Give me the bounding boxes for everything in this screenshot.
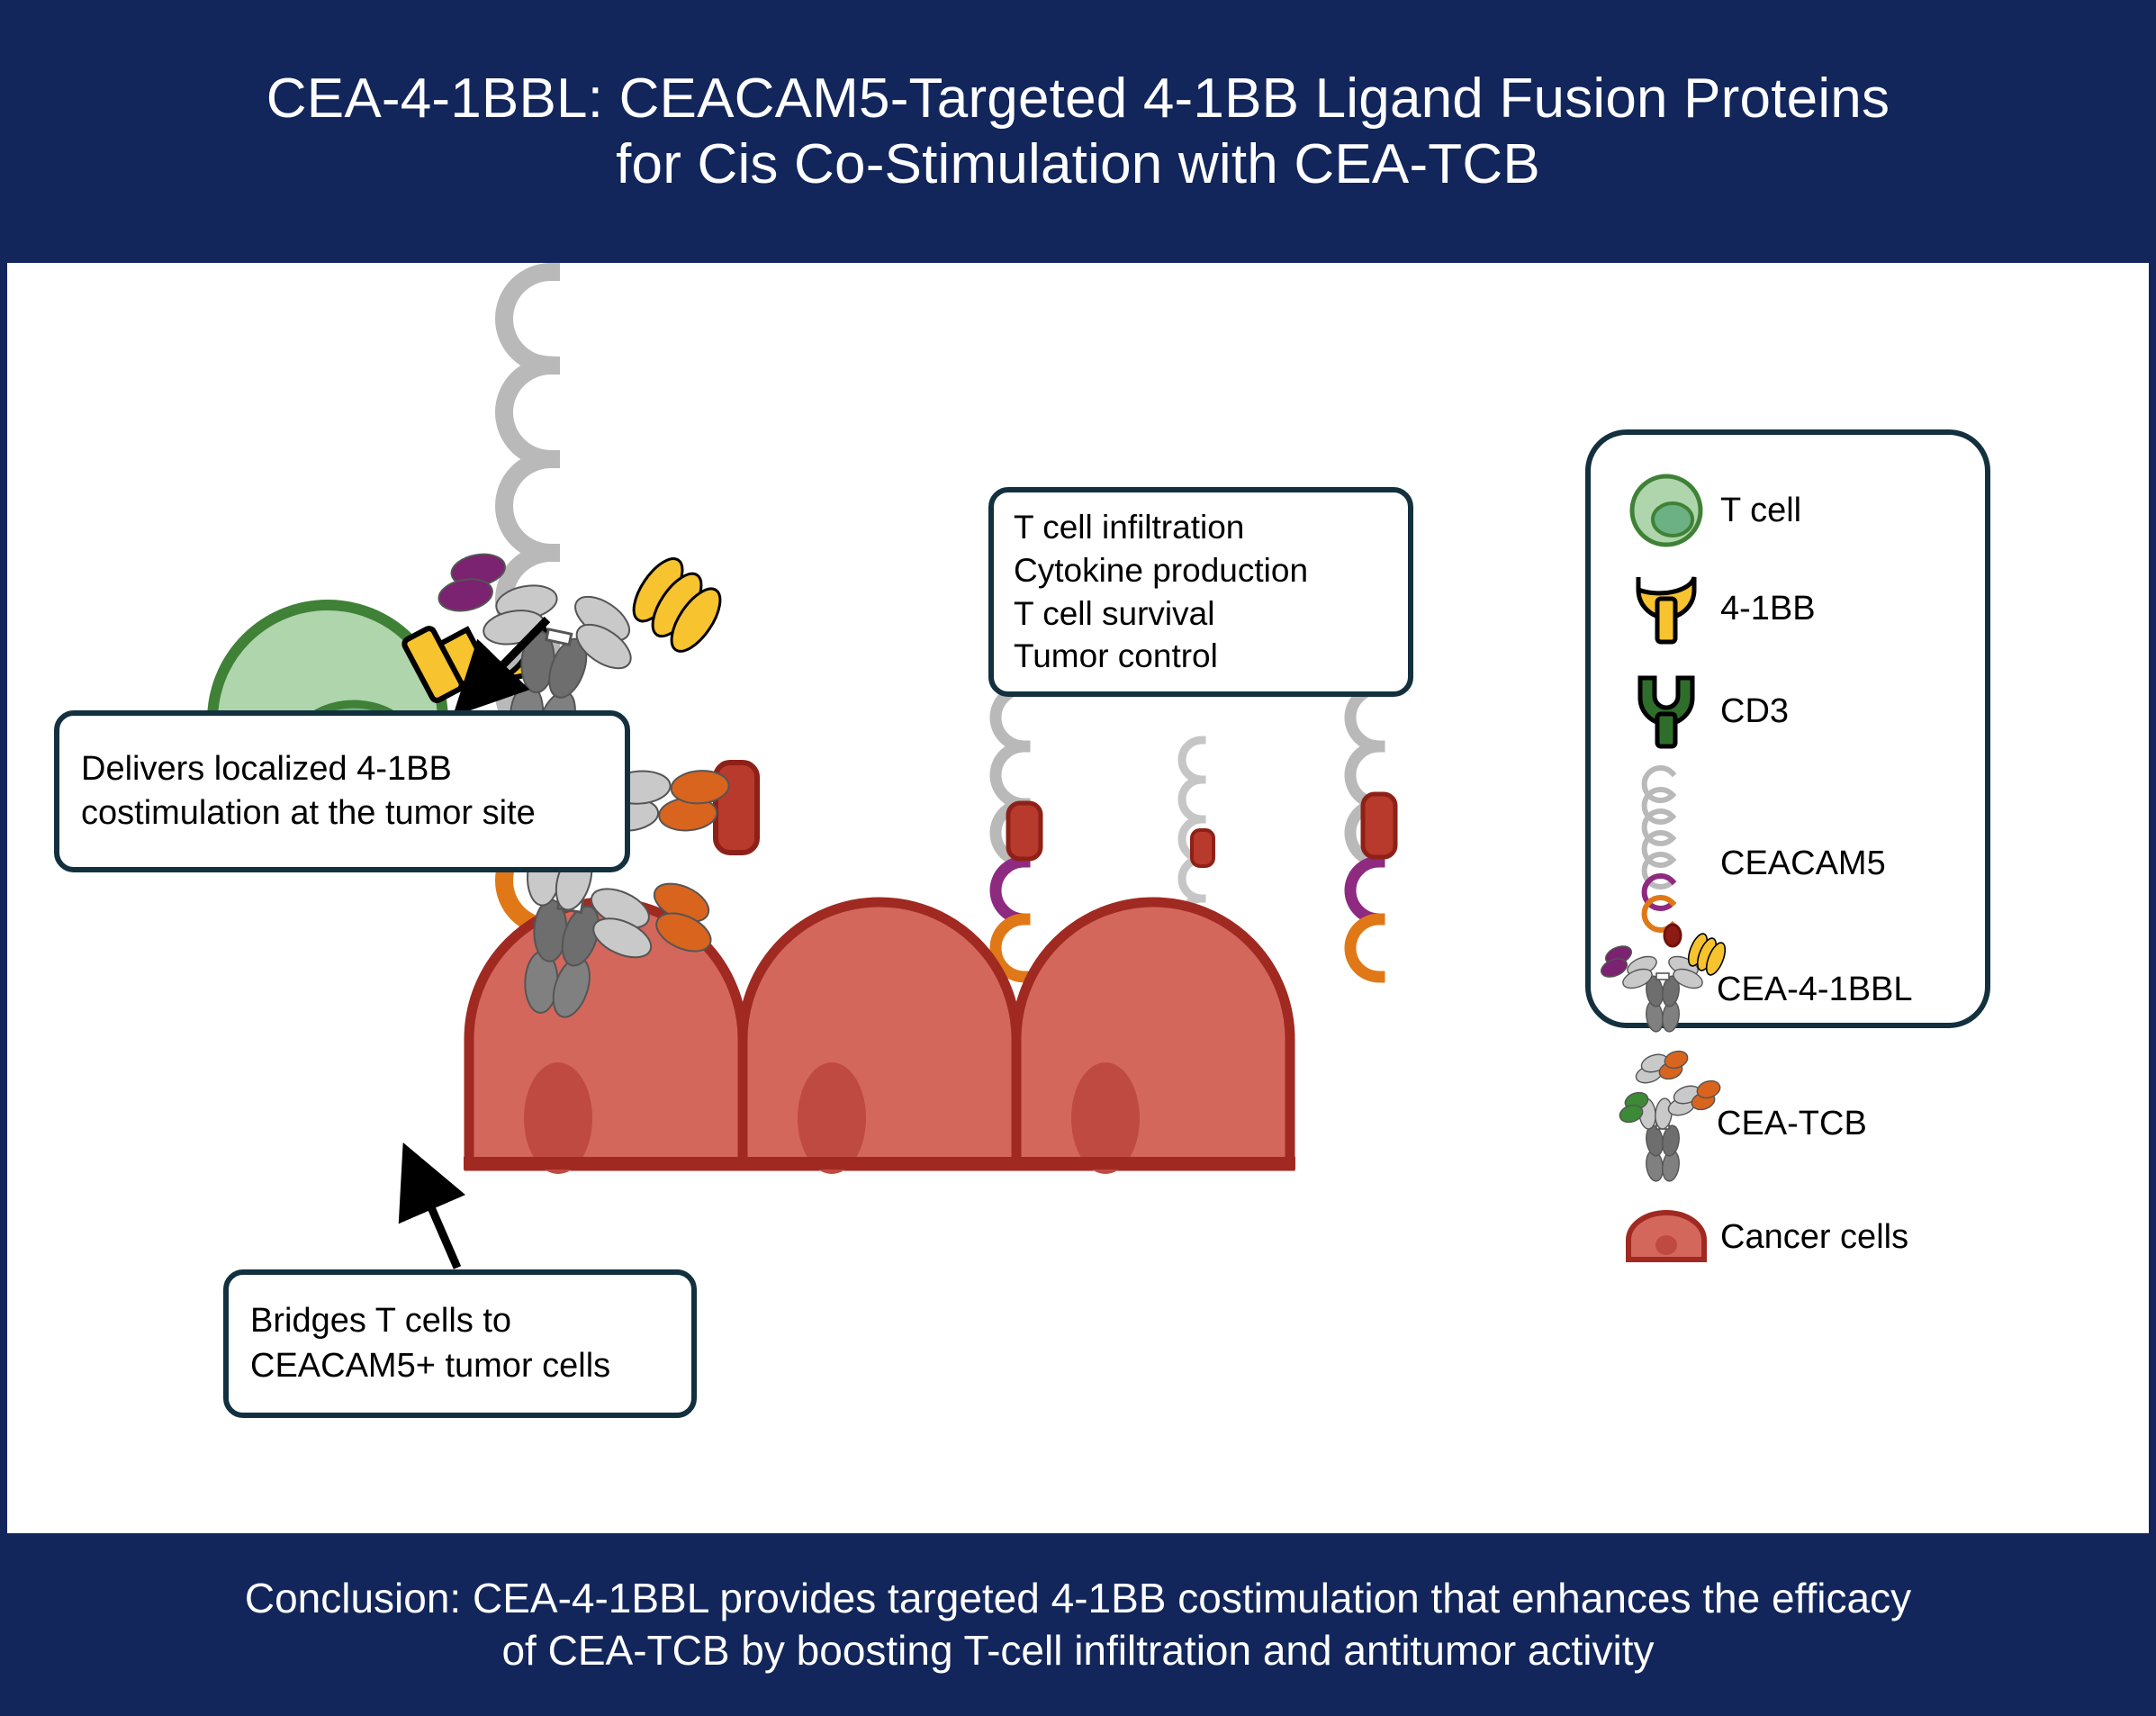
- legend-item-4-1bb: 4-1BB: [1612, 570, 1816, 647]
- callout-delivers-costimulation: Delivers localized 4-1BB costimulation a…: [54, 710, 630, 872]
- legend-item-cea-tcb: CEA-TCB: [1609, 1065, 1867, 1182]
- poster-root: CEA-4-1BBL: CEACAM5-Targeted 4-1BB Ligan…: [0, 0, 2156, 1716]
- outcomes-box: T cell infiltration Cytokine production …: [988, 487, 1413, 697]
- callout-bottom-leader: [416, 1172, 457, 1268]
- cancer-cell: [743, 902, 1016, 1166]
- outcome-item: T cell infiltration: [1014, 506, 1388, 549]
- cancer-cell-icon: [1612, 1209, 1720, 1265]
- ceacam5-coil-icon: [1612, 768, 1720, 948]
- diagram-canvas: Delivers localized 4-1BB costimulation a…: [7, 263, 2149, 1533]
- header-band: CEA-4-1BBL: CEACAM5-Targeted 4-1BB Ligan…: [0, 0, 2156, 263]
- legend-item-cancer-cells: Cancer cells: [1612, 1209, 1908, 1265]
- legend-item-t-cell: T cell: [1612, 467, 1801, 554]
- cea-4-1bbl-antibody-icon: [1609, 939, 1717, 1040]
- legend-label: Cancer cells: [1720, 1218, 1908, 1257]
- legend-item-cea-4-1bbl: CEA-4-1BBL: [1609, 939, 1913, 1040]
- callout-bottom-line1: Bridges T cells to: [250, 1299, 670, 1343]
- legend-panel: T cell 4-1BB: [1585, 429, 1990, 1028]
- callout-bottom-line2: CEACAM5+ tumor cells: [250, 1344, 670, 1388]
- legend-label: T cell: [1720, 492, 1801, 530]
- legend-item-cd3: CD3: [1612, 673, 1789, 750]
- t-cell-icon: [1612, 467, 1720, 554]
- ceacam5-anchor: [716, 763, 1395, 866]
- outcome-item: Tumor control: [1014, 635, 1388, 678]
- callout-bridges-t-cells: Bridges T cells to CEACAM5+ tumor cells: [223, 1269, 697, 1418]
- callout-top-line2: costimulation at the tumor site: [81, 791, 603, 835]
- legend-label: 4-1BB: [1720, 590, 1816, 628]
- outcome-item: T cell survival: [1014, 592, 1388, 636]
- legend-label: CD3: [1720, 692, 1789, 731]
- outcome-item: Cytokine production: [1014, 549, 1388, 592]
- page-title: CEA-4-1BBL: CEACAM5-Targeted 4-1BB Ligan…: [230, 66, 1926, 197]
- legend-item-ceacam5: CEACAM5: [1612, 768, 1886, 948]
- footer-band: Conclusion: CEA-4-1BBL provides targeted…: [0, 1533, 2156, 1716]
- cancer-cell: [1016, 902, 1290, 1166]
- 4-1bb-receptor-icon: [1612, 570, 1720, 647]
- callout-top-line1: Delivers localized 4-1BB: [81, 747, 603, 791]
- cea-tcb-antibody-icon: [1609, 1065, 1717, 1182]
- conclusion-text: Conclusion: CEA-4-1BBL provides targeted…: [191, 1573, 1965, 1676]
- cd3-receptor-icon: [1612, 673, 1720, 750]
- legend-label: CEACAM5: [1720, 844, 1886, 883]
- legend-label: CEA-TCB: [1717, 1105, 1867, 1143]
- legend-label: CEA-4-1BBL: [1717, 971, 1913, 1009]
